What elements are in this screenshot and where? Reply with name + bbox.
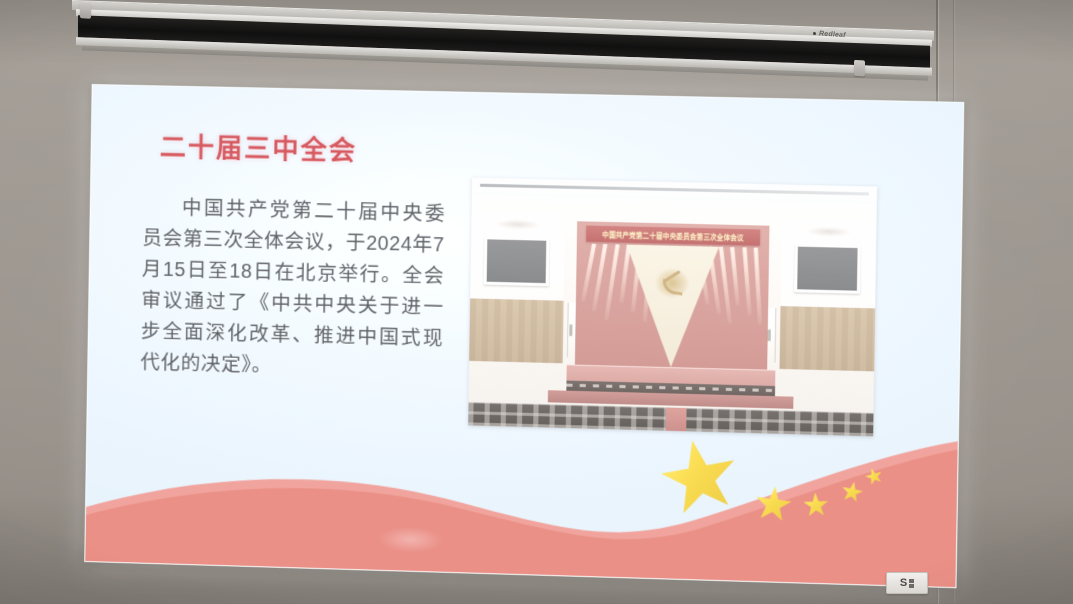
mount-bracket-left xyxy=(80,2,91,19)
wall-motif-right xyxy=(799,224,860,239)
wainscot-left xyxy=(469,298,564,363)
sticker-marks-icon xyxy=(909,579,914,588)
hall-interior: 中国共产党第二十届中央委员会第三次全体会议 xyxy=(468,195,877,437)
decorative-hill-front xyxy=(85,411,958,587)
brand-dot-icon xyxy=(813,32,816,35)
wall-panel-right xyxy=(794,244,861,294)
mount-bracket-right xyxy=(854,60,865,77)
wall-motif-left xyxy=(488,217,548,231)
side-wall-upper-left xyxy=(470,212,565,301)
projection-screen-casing[interactable]: Redleaf xyxy=(72,0,934,54)
projected-slide-area[interactable]: 二十届三中全会 中国共产党第二十届中央委员会第三次全体会议，于2024年7月15… xyxy=(84,84,962,586)
stage-banner-text: 中国共产党第二十届中央委员会第三次全体会议 xyxy=(602,229,744,243)
hall-side-wall-right xyxy=(780,219,877,371)
plenary-hall-photo: 中国共产党第二十届中央委员会第三次全体会议 xyxy=(468,178,877,437)
wainscot-right xyxy=(780,306,876,371)
sticker-glyph: S xyxy=(900,578,907,589)
side-wall-upper-right xyxy=(781,219,877,308)
stage-backdrop: 中国共产党第二十届中央委员会第三次全体会议 xyxy=(575,221,770,369)
hall-side-wall-left xyxy=(469,212,565,364)
stage-banner: 中国共产党第二十届中央委员会第三次全体会议 xyxy=(586,226,759,246)
slide-footer-decoration xyxy=(85,411,958,587)
slide-body-text: 中国共产党第二十届中央委员会第三次全体会议，于2024年7月15日至18日在北京… xyxy=(140,192,445,386)
room-scene: Redleaf 二十届三中全会 中国共产党第二十届中央委员会第三次全体会议，于2… xyxy=(0,0,1073,604)
wall-panel-left xyxy=(483,236,549,286)
slide-title: 二十届三中全会 xyxy=(160,126,358,167)
presentation-slide[interactable]: 二十届三中全会 中国共产党第二十届中央委员会第三次全体会议，于2024年7月15… xyxy=(84,84,964,588)
hammer-and-sickle-icon xyxy=(655,268,690,299)
wall-sticker-plate: S xyxy=(886,572,928,594)
